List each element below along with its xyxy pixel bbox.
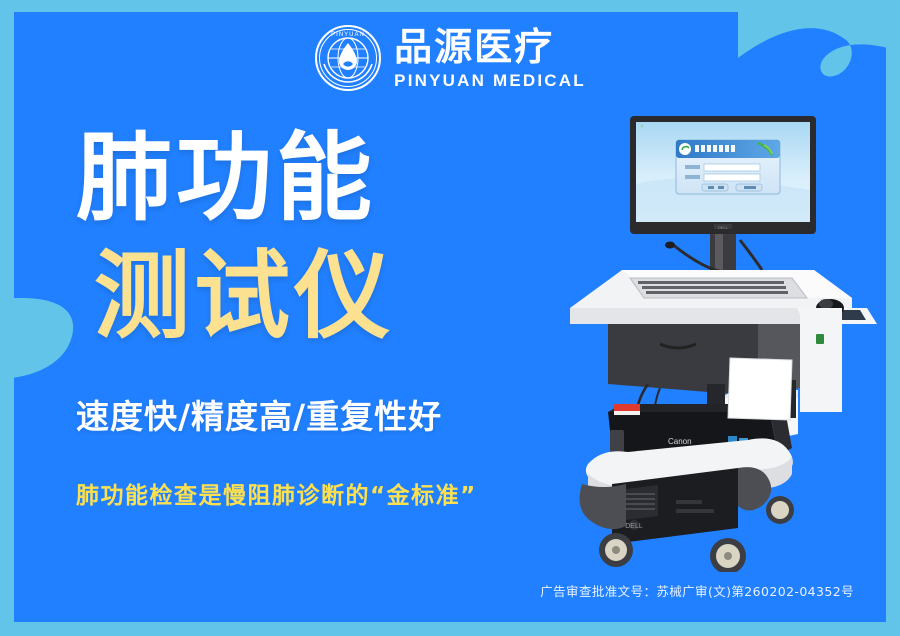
- product-illustration: DELL: [552, 112, 886, 572]
- brand-name-cn: 品源医疗: [394, 28, 554, 66]
- monitor: DELL: [630, 116, 816, 234]
- ad-approval-number: 广告审查批准文号：苏械广审(文)第260202-04352号: [540, 581, 854, 600]
- svg-text:PINYUAN: PINYUAN: [331, 32, 365, 38]
- printer-brand-label: Canon: [668, 437, 692, 446]
- keyboard: [630, 278, 807, 298]
- leaf-decoration-left: [14, 298, 78, 378]
- cart-base: DELL: [580, 438, 793, 544]
- poster-canvas: PINYUAN 品源医疗 PINYUAN MEDICAL 肺功能 测试仪 速度快…: [0, 0, 900, 636]
- headline-line-1: 肺功能: [76, 130, 516, 226]
- feature-tagline: 速度快/精度高/重复性好: [76, 390, 442, 438]
- poster-inner-panel: PINYUAN 品源医疗 PINYUAN MEDICAL 肺功能 测试仪 速度快…: [14, 12, 886, 622]
- claim-tagline: 肺功能检查是慢阻肺诊断的“金标准”: [76, 476, 477, 510]
- brand-header: PINYUAN 品源医疗 PINYUAN MEDICAL: [14, 24, 886, 92]
- pinyuan-circular-emblem-icon: PINYUAN: [314, 24, 382, 92]
- headline-block: 肺功能 测试仪: [76, 130, 516, 344]
- headline-line-2: 测试仪: [94, 248, 516, 344]
- svg-text:DELL: DELL: [718, 225, 729, 230]
- brand-name-en: PINYUAN MEDICAL: [394, 72, 586, 89]
- svg-text:DELL: DELL: [625, 523, 643, 530]
